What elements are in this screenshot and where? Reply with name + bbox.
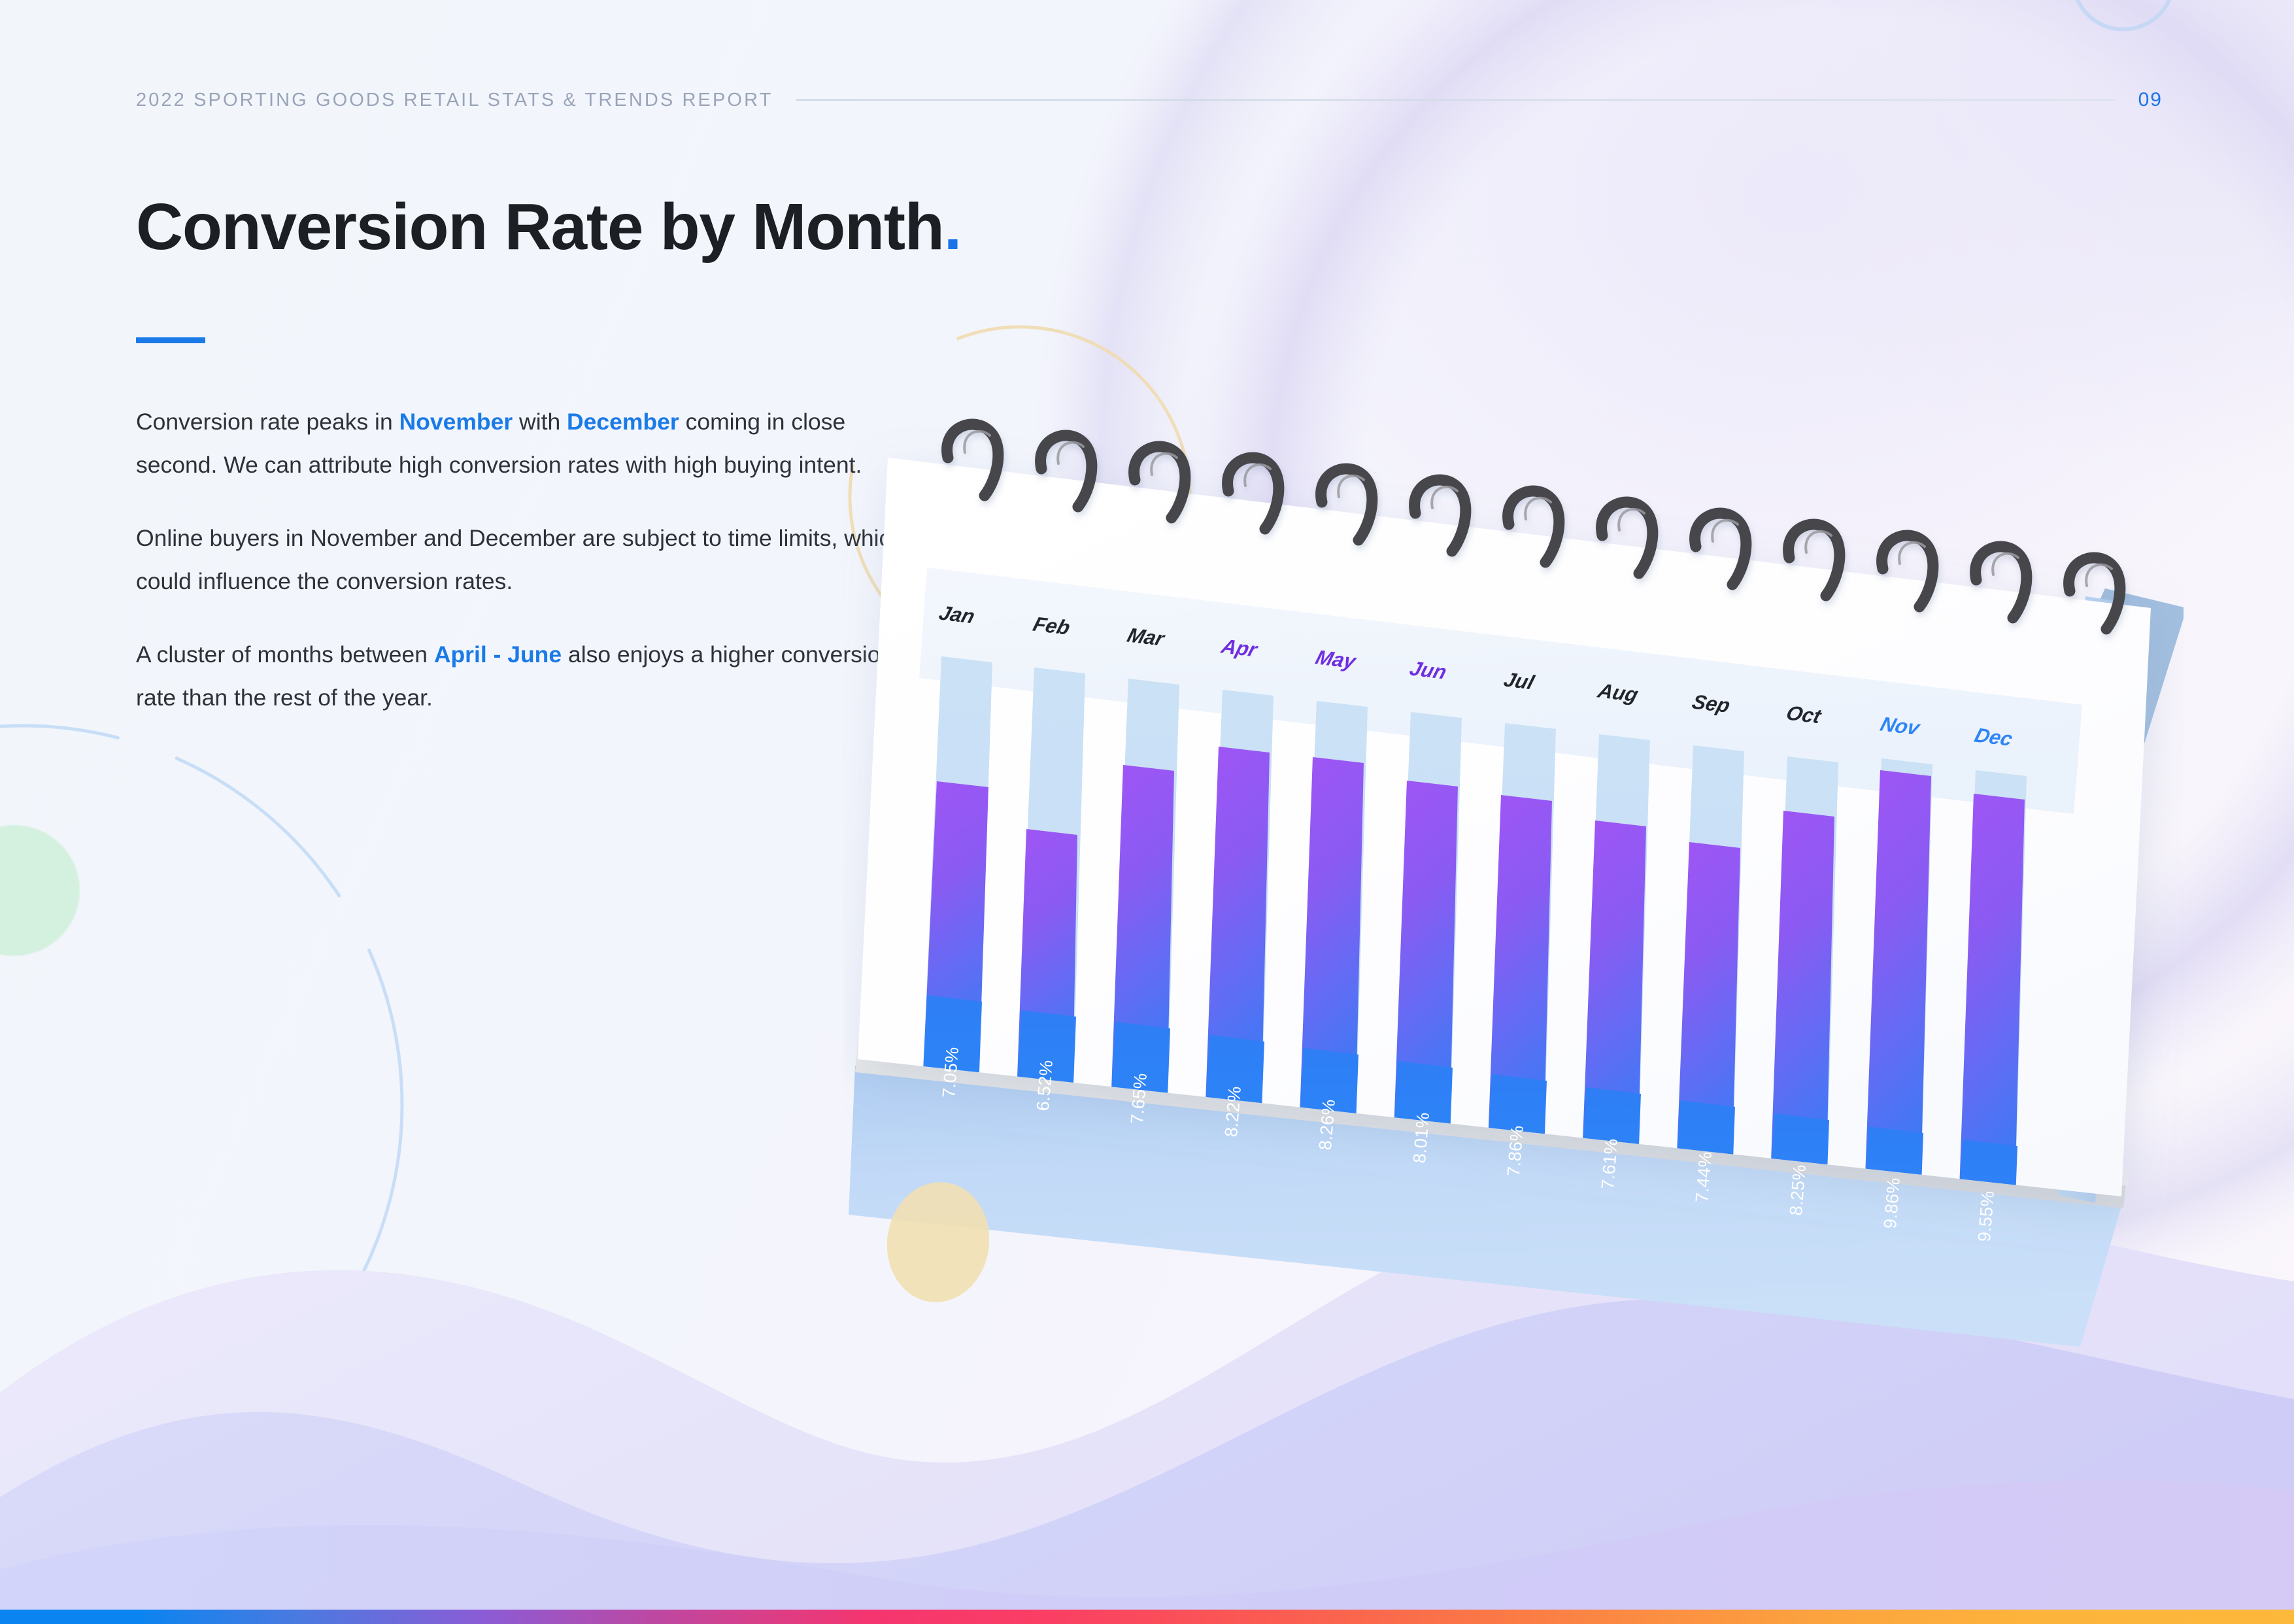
bar-value-sep: 7.44%: [1692, 1151, 1716, 1203]
bar-value-may: 8.26%: [1315, 1098, 1340, 1151]
page-title-text: Conversion Rate by Month: [136, 190, 944, 263]
bar-value-dec: 9.55%: [1974, 1190, 1999, 1242]
header-divider-rule: [796, 99, 2114, 101]
page-number: 09: [2138, 89, 2163, 111]
page-title-period: .: [944, 190, 961, 263]
bar-value-nov: 9.86%: [1880, 1177, 1904, 1229]
p3-part-a: A cluster of months between: [136, 641, 434, 668]
p1-part-c: with: [513, 409, 567, 435]
title-accent-bar: [136, 337, 205, 343]
page-title: Conversion Rate by Month.: [136, 190, 961, 265]
p3-highlight-april-june: April - June: [434, 641, 562, 668]
p1-highlight-november: November: [399, 409, 513, 435]
report-header-label: 2022 SPORTING GOODS RETAIL STATS & TREND…: [136, 90, 773, 111]
body-copy: Conversion rate peaks in November with D…: [136, 400, 907, 719]
bar-value-apr: 8.22%: [1221, 1085, 1245, 1138]
p1-part-a: Conversion rate peaks in: [136, 409, 399, 435]
bottom-gradient-strip: [0, 1610, 2294, 1624]
paragraph-3: A cluster of months between April - June…: [136, 633, 907, 719]
bar-value-oct: 8.25%: [1786, 1164, 1810, 1216]
bar-value-jul: 7.86%: [1504, 1125, 1528, 1177]
bar-value-aug: 7.61%: [1598, 1138, 1622, 1190]
bar-value-jun: 8.01%: [1409, 1111, 1434, 1164]
desk-calendar-chart: Jan Feb Mar Apr May Jun Jul Aug Sep Oct …: [843, 392, 2184, 1412]
bar-value-labels: 7.05% 6.52% 7.65% 8.22% 8.26% 8.01% 7.86…: [843, 392, 2184, 1412]
paragraph-2: Online buyers in November and December a…: [136, 516, 907, 603]
bar-value-jan: 7.05%: [939, 1046, 963, 1098]
paragraph-1: Conversion rate peaks in November with D…: [136, 400, 907, 486]
p1-highlight-december: December: [567, 409, 679, 435]
bar-value-feb: 6.52%: [1033, 1059, 1057, 1111]
bar-value-mar: 7.65%: [1127, 1072, 1151, 1125]
report-header: 2022 SPORTING GOODS RETAIL STATS & TREND…: [136, 84, 2163, 116]
